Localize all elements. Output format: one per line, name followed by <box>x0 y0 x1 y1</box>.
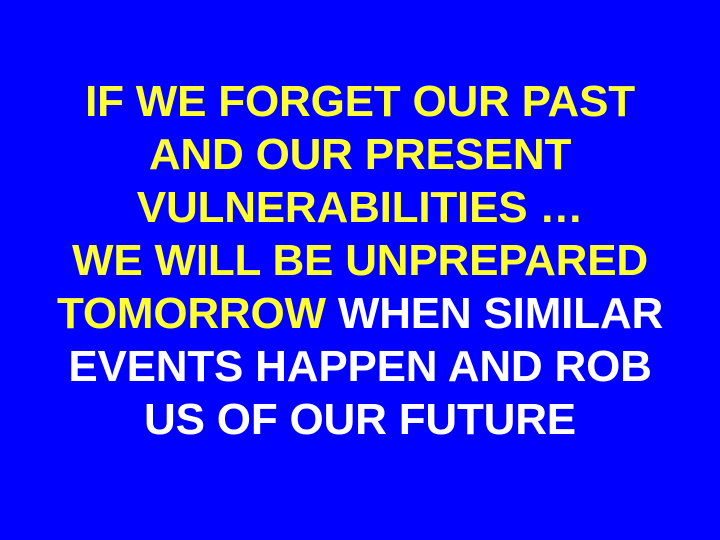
slide-line-2: AND OUR PRESENT <box>0 128 720 181</box>
slide-line-5-emphasis: TOMORROW <box>57 289 326 338</box>
slide-line-6: EVENTS HAPPEN AND ROB <box>0 340 720 393</box>
slide-line-7: US OF OUR FUTURE <box>0 393 720 446</box>
presentation-slide: IF WE FORGET OUR PAST AND OUR PRESENT VU… <box>0 0 720 540</box>
slide-line-1: IF WE FORGET OUR PAST <box>0 75 720 128</box>
slide-line-3: VULNERABILITIES … <box>0 181 720 234</box>
slide-line-5-body: WHEN SIMILAR <box>326 289 663 338</box>
slide-line-4: WE WILL BE UNPREPARED <box>0 234 720 287</box>
slide-text-block: IF WE FORGET OUR PAST AND OUR PRESENT VU… <box>0 0 720 446</box>
slide-line-5: TOMORROW WHEN SIMILAR <box>0 287 720 340</box>
